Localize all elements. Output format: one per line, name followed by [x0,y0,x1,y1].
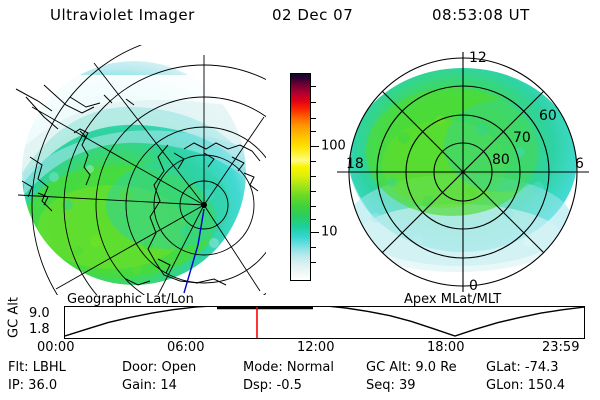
mlt-spokes [337,52,589,292]
geographic-panel-title: Geographic Lat/Lon [67,292,194,307]
header-bar: Ultraviolet Imager 02 Dec 07 08:53:08 UT [0,6,600,32]
colorbar-tick [311,219,316,220]
strip-y-max-label: 9.0 [29,306,50,321]
glon-status: GLon: 150.4 [486,378,565,393]
glat-status: GLat: -74.3 [486,360,559,375]
strip-plot-area[interactable] [64,306,585,339]
colorbar-tick [311,206,316,207]
observation-time: 08:53:08 UT [432,6,530,24]
observation-date: 02 Dec 07 [272,6,353,24]
strip-xtick-1800: 18:00 [427,340,464,355]
apex-panel-title: Apex MLat/MLT [404,292,501,307]
colorbar-tick [311,176,316,177]
colorbar-tick [311,86,316,87]
strip-xtick-1200: 12:00 [297,340,334,355]
mlt-label-18: 18 [346,156,364,172]
colorbar-tick [311,191,316,192]
colorbar-group[interactable]: photon cm-2s-1 100 10 [270,60,340,295]
strip-xtick-0600: 06:00 [167,340,204,355]
geographic-image[interactable] [8,45,266,295]
apex-panel[interactable]: 12 6 0 18 60 70 80 [332,42,594,298]
aurora-emission [22,61,250,285]
seq-status: Seq: 39 [366,378,416,393]
filter-status: Flt: LBHL [8,360,66,375]
colorbar-gradient[interactable] [290,73,311,281]
ip-status: IP: 36.0 [8,378,57,393]
strip-y-min-label: 1.8 [29,322,50,337]
mlat-label-80: 80 [492,152,510,168]
colorbar-tick [311,247,316,248]
mlat-label-60: 60 [539,108,557,124]
colorbar-tick-major-low [311,232,319,233]
door-status: Door: Open [122,360,196,375]
strip-xtick-0000: 00:00 [37,340,74,355]
dsp-status: Dsp: -0.5 [243,378,302,393]
mode-status: Mode: Normal [243,360,334,375]
instrument-title: Ultraviolet Imager [50,6,195,24]
apex-image[interactable]: 12 6 0 18 60 70 80 [332,42,594,298]
strip-xtick-2359: 23:59 [542,340,579,355]
mlt-label-12: 12 [469,50,487,66]
altitude-curve [65,307,584,336]
colorbar-tick [311,102,316,103]
colorbar-tick [311,161,316,162]
gc-alt-status: GC Alt: 9.0 Re [366,360,457,375]
mlat-label-70: 70 [513,130,531,146]
geographic-panel[interactable] [8,45,266,295]
gain-status: Gain: 14 [122,378,177,393]
colorbar-tick [311,262,316,263]
colorbar-tick [311,131,316,132]
altitude-curve-svg [65,307,584,338]
colorbar-tick [311,118,316,119]
colorbar-tick-major-high [311,146,319,147]
mlt-label-6: 6 [575,156,584,172]
status-footer: Flt: LBHL IP: 36.0 Door: Open Gain: 14 M… [0,360,600,398]
orbit-strip-chart[interactable]: Geographic Lat/Lon Apex MLat/MLT GC Alt … [0,292,600,354]
strip-y-axis-label: GC Alt [7,290,22,346]
